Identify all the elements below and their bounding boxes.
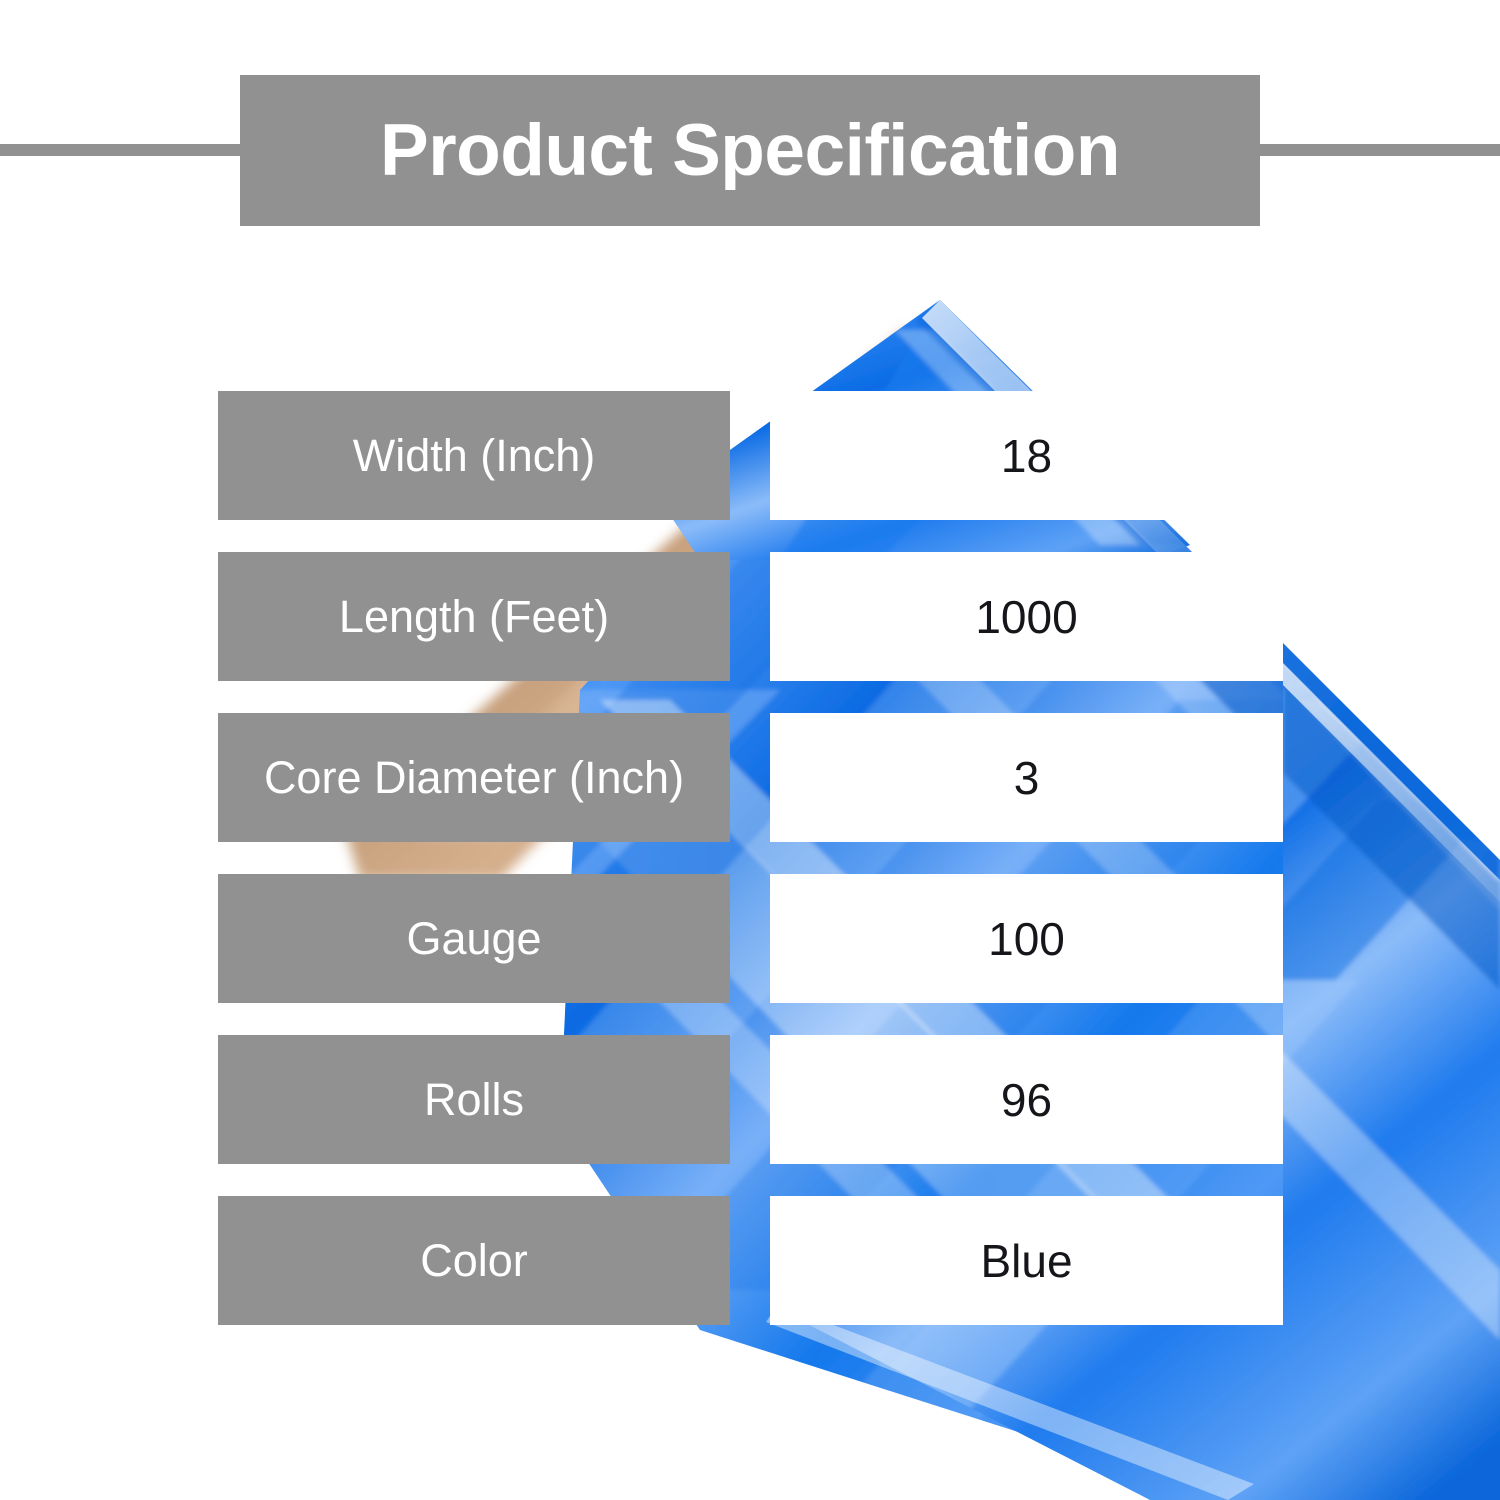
table-row: Width (Inch) 18	[0, 391, 1500, 520]
spec-label: Color	[420, 1238, 528, 1284]
spec-label: Gauge	[406, 916, 541, 962]
spec-label: Length (Feet)	[339, 594, 609, 640]
spec-value: Blue	[980, 1238, 1072, 1284]
spec-value: 96	[1001, 1077, 1052, 1123]
spec-value: 18	[1001, 433, 1052, 479]
spec-value: 1000	[975, 594, 1077, 640]
spec-label-cell: Length (Feet)	[218, 552, 730, 681]
table-row: Color Blue	[0, 1196, 1500, 1325]
spec-value: 3	[1014, 755, 1040, 801]
spec-label-cell: Core Diameter (Inch)	[218, 713, 730, 842]
spec-label-cell: Width (Inch)	[218, 391, 730, 520]
spec-value-cell: 3	[770, 713, 1283, 842]
spec-label: Core Diameter (Inch)	[264, 755, 684, 801]
table-row: Core Diameter (Inch) 3	[0, 713, 1500, 842]
table-row: Gauge 100	[0, 874, 1500, 1003]
specification-table: Width (Inch) 18 Length (Feet) 1000 Core …	[0, 0, 1500, 1500]
spec-label-cell: Gauge	[218, 874, 730, 1003]
table-row: Length (Feet) 1000	[0, 552, 1500, 681]
spec-label: Rolls	[424, 1077, 524, 1123]
spec-value-cell: Blue	[770, 1196, 1283, 1325]
spec-value-cell: 18	[770, 391, 1283, 520]
specification-card: Product Specification Width (Inch) 18 Le…	[0, 0, 1500, 1500]
table-row: Rolls 96	[0, 1035, 1500, 1164]
spec-value-cell: 100	[770, 874, 1283, 1003]
spec-value: 100	[988, 916, 1065, 962]
spec-value-cell: 96	[770, 1035, 1283, 1164]
spec-value-cell: 1000	[770, 552, 1283, 681]
spec-label-cell: Rolls	[218, 1035, 730, 1164]
spec-label-cell: Color	[218, 1196, 730, 1325]
spec-label: Width (Inch)	[353, 433, 596, 479]
